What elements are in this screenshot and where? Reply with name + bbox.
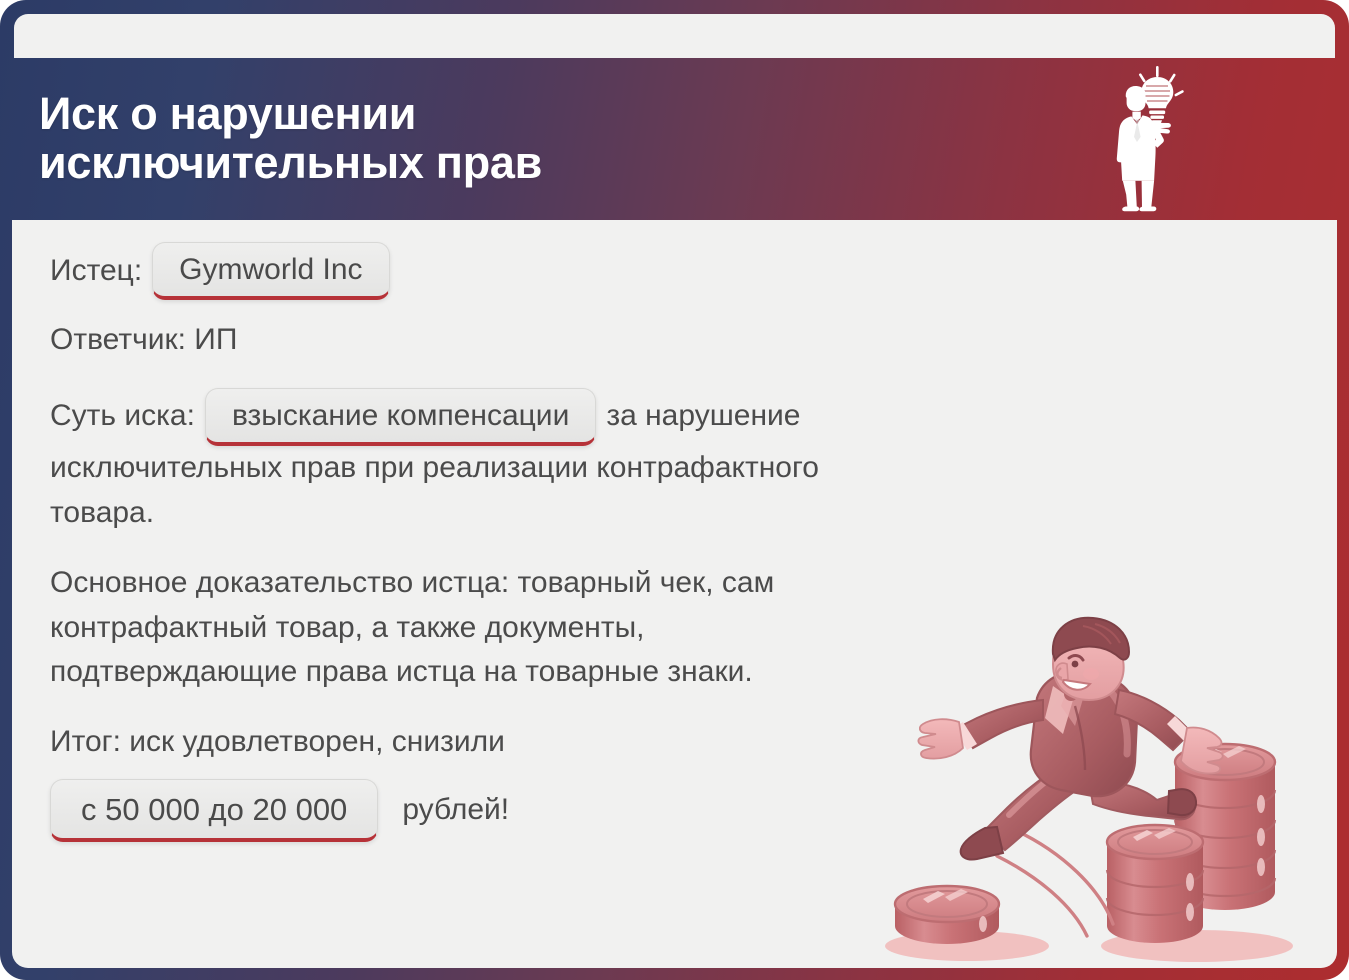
claim-after-pill-text: за нарушение [606, 399, 800, 432]
businessman-with-lightbulb-icon [1096, 64, 1192, 214]
outcome-label: Итог: иск удовлетворен, снизили [50, 720, 1303, 764]
claim-type-pill[interactable]: взыскание компенсации [205, 388, 596, 446]
plaintiff-row: Истец: Gymworld Inc [50, 242, 1303, 300]
defendant-text: Ответчик: ИП [50, 323, 237, 356]
infographic-card: Иск о нарушении исключительных прав [0, 0, 1349, 980]
defendant-row: Ответчик: ИП [50, 318, 1303, 362]
plaintiff-value-pill[interactable]: Gymworld Inc [152, 242, 389, 300]
page-title: Иск о нарушении исключительных прав [39, 90, 542, 187]
card-header: Иск о нарушении исключительных прав [12, 58, 1337, 220]
card-top-strip [14, 14, 1335, 58]
card-body: Истец: Gymworld Inc Ответчик: ИП Суть ис… [12, 220, 1337, 968]
outcome-amount-pill[interactable]: с 50 000 до 20 000 [50, 779, 378, 842]
claim-label: Суть иска: [50, 399, 195, 432]
claim-row: Суть иска:взыскание компенсацииза наруше… [50, 388, 890, 535]
outcome-suffix: рублей! [402, 788, 509, 832]
claim-continuation-text: исключительных прав при реализации контр… [50, 446, 890, 535]
card-content: Истец: Gymworld Inc Ответчик: ИП Суть ис… [12, 220, 1337, 842]
outcome-row: Итог: иск удовлетворен, снизили с 50 000… [50, 720, 1303, 842]
evidence-paragraph: Основное доказательство истца: товарный … [50, 561, 880, 694]
plaintiff-label: Истец: [50, 249, 142, 293]
